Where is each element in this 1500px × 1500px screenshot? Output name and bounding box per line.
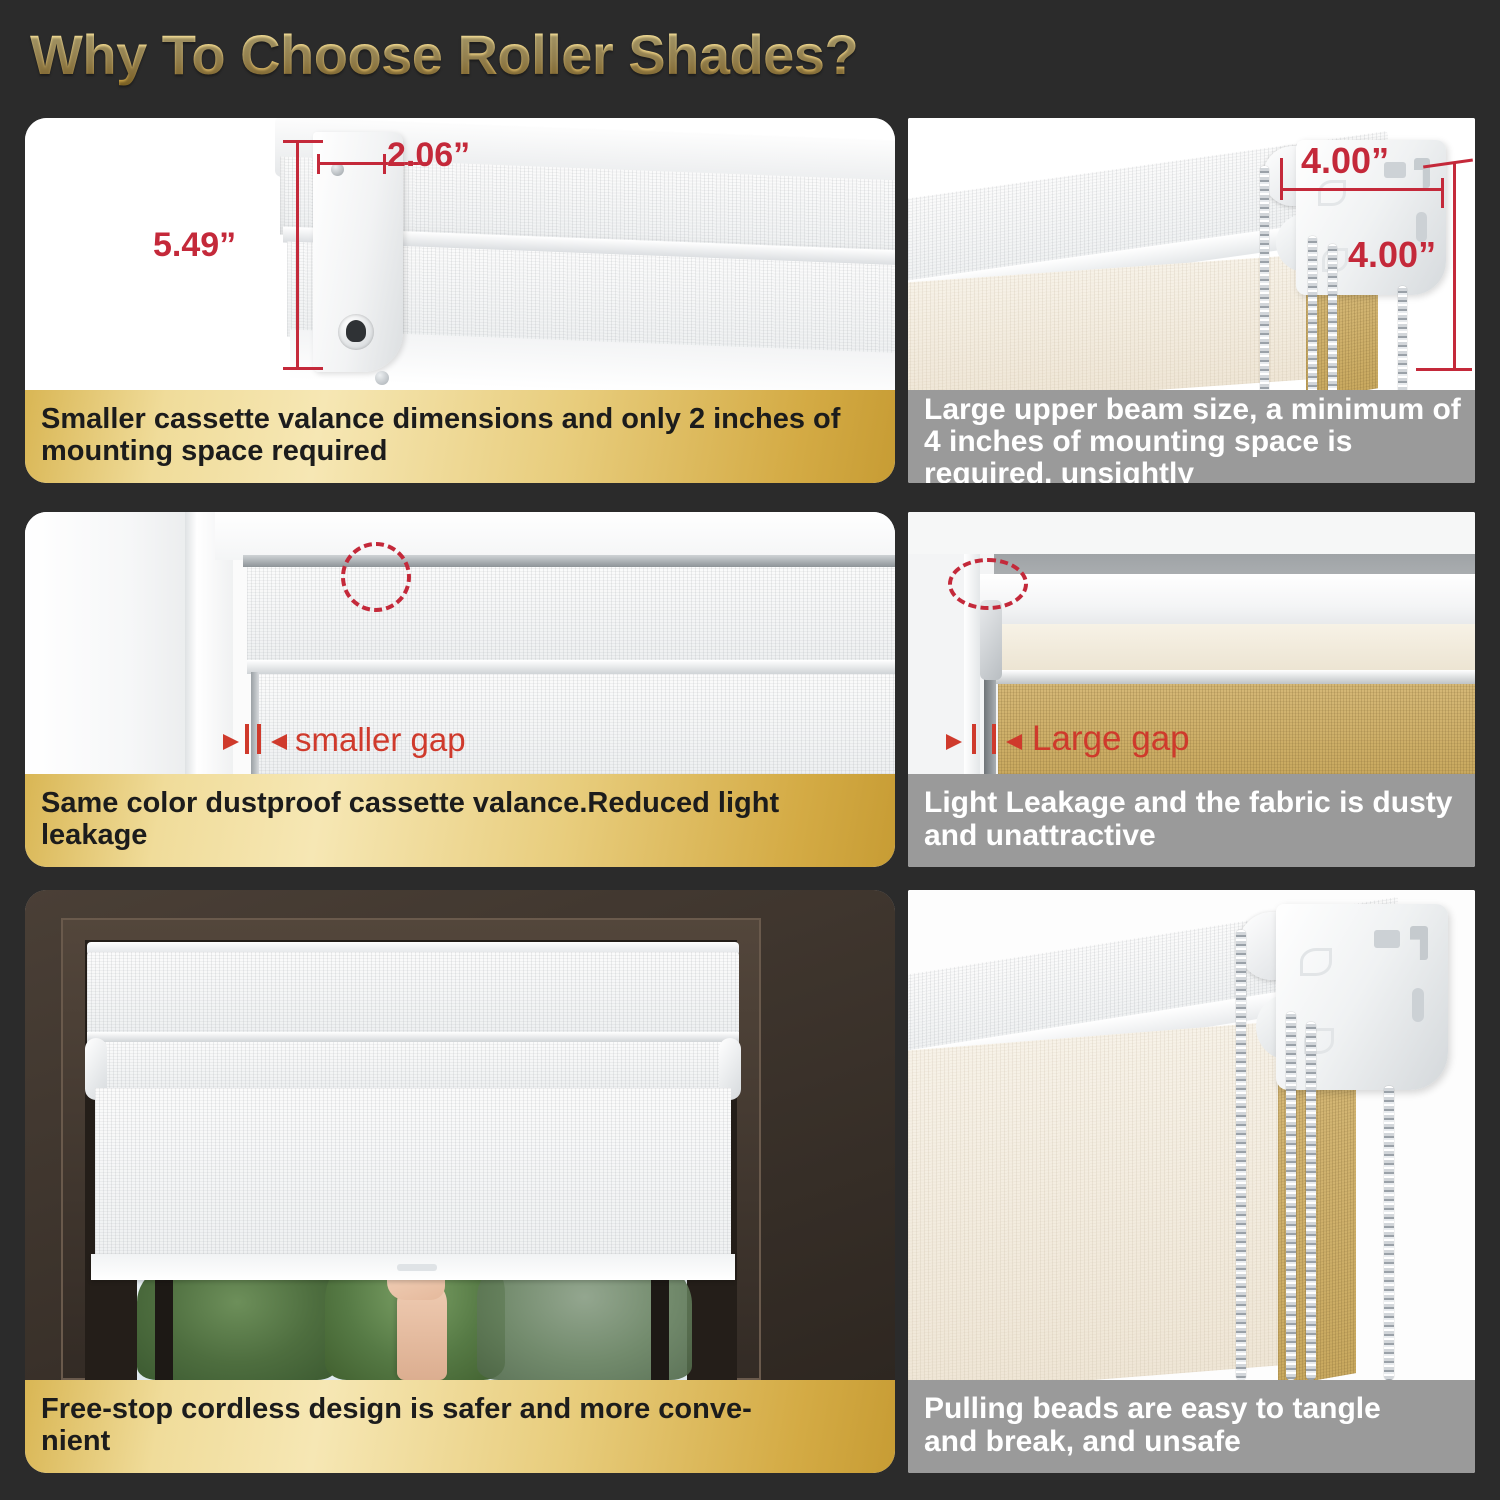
- highlight-circle-icon: [341, 542, 411, 612]
- panel-2-caption: Large upper beam size, a minimum of 4 in…: [908, 390, 1475, 483]
- panel-2-photo: 4.00” 4.00”: [908, 118, 1475, 390]
- panel-light-leakage: Large gap Light Leakage and the fabric i…: [908, 512, 1475, 867]
- bracket-clutch: [338, 314, 374, 350]
- panel-6-caption-line2: and break, and unsafe: [924, 1426, 1241, 1458]
- width-dim-tick-left: [317, 154, 320, 174]
- shade-left-gap: [251, 672, 259, 774]
- panel-cordless-design: Free-stop cordless design is safer and m…: [25, 890, 895, 1473]
- height-dimension-label: 5.49”: [153, 226, 236, 265]
- panel-3-photo: smaller gap: [25, 512, 895, 774]
- highlight-ellipse-icon: [948, 558, 1028, 610]
- panel-5-photo: [25, 890, 895, 1380]
- panel-dustproof-valance: smaller gap Same color dustproof cassett…: [25, 512, 895, 867]
- bead-chain-c: [1306, 1022, 1316, 1380]
- beam-lip: [990, 670, 1475, 684]
- bead-chain-d: [1384, 1086, 1394, 1380]
- panel-5-caption-line1: Free-stop cordless design is safer and m…: [41, 1394, 752, 1425]
- width-dimension-label: 2.06”: [387, 136, 470, 175]
- bead-chain-b: [1286, 1012, 1296, 1380]
- panel-2-caption-text: Large upper beam size, a minimum of 4 in…: [924, 394, 1461, 483]
- beam-width-label: 4.00”: [1301, 140, 1389, 182]
- height-dim-cap-top: [283, 140, 323, 143]
- panel-smaller-cassette: 2.06” 5.49” Smaller cassette valance dim…: [25, 118, 895, 483]
- bottom-rail-grip: [397, 1264, 437, 1271]
- height-dim-cap-bottom: [283, 367, 323, 370]
- beam-height-dim-line: [1453, 162, 1456, 370]
- large-gap-arrow-left-icon: [1006, 734, 1022, 750]
- smaller-gap-label: smaller gap: [295, 721, 466, 759]
- panel-1-caption-text: Smaller cassette valance dimensions and …: [41, 404, 881, 466]
- bead-chain-3: [1328, 244, 1337, 390]
- beam-height-label: 4.00”: [1348, 234, 1436, 276]
- window-frame-left: [25, 512, 200, 774]
- large-gap-tick-1: [972, 724, 976, 754]
- beam-width-tick-right: [1441, 178, 1444, 208]
- beam-cream-face: [992, 624, 1475, 672]
- window-head-frame: [215, 512, 895, 560]
- large-gap-arrow-right-icon: [946, 734, 962, 750]
- panel-1-caption: Smaller cassette valance dimensions and …: [25, 390, 895, 483]
- infographic-root: Why To Choose Roller Shades? 2.06”: [0, 0, 1500, 1500]
- large-gap-label: Large gap: [1032, 719, 1190, 759]
- panel-4-caption-text: Light Leakage and the fabric is dusty an…: [924, 787, 1461, 851]
- panel-1-photo: 2.06” 5.49”: [25, 118, 895, 390]
- panel-5-caption-line2: nient: [41, 1426, 110, 1457]
- beam-width-dim-line: [1281, 188, 1443, 191]
- height-dimension-line: [296, 140, 299, 370]
- bracket-clip: [980, 600, 1002, 680]
- valance-bottom-lip: [247, 660, 895, 674]
- valance-gap-line: [243, 555, 895, 567]
- panel-6-caption-line1: Pulling beads are easy to tangle: [924, 1393, 1381, 1425]
- bead-chain-4: [1398, 286, 1407, 390]
- bead-chain-1: [1260, 166, 1269, 390]
- panel-3-caption: Same color dustproof cassette valance.Re…: [25, 774, 895, 867]
- shade-main-fabric: [95, 1088, 731, 1266]
- panel-4-caption: Light Leakage and the fabric is dusty an…: [908, 774, 1475, 867]
- shade-roll-band: [93, 1042, 733, 1090]
- large-gap-tick-2: [992, 724, 996, 754]
- gap-tick-1: [245, 724, 249, 754]
- panel-5-caption: Free-stop cordless design is safer and m…: [25, 1380, 895, 1473]
- panel-4-photo: Large gap: [908, 512, 1475, 774]
- wall-top: [908, 512, 1475, 554]
- beam-width-tick-left: [1280, 158, 1283, 200]
- mounting-bracket-plate-2: [1276, 904, 1448, 1090]
- gap-arrow-right-icon: [223, 734, 239, 750]
- gap-tick-2: [257, 724, 261, 754]
- window-frame-edge: [185, 512, 197, 774]
- cassette-valance: [87, 952, 739, 1034]
- gap-arrow-left-icon: [271, 734, 287, 750]
- width-dim-tick-right: [383, 154, 386, 174]
- beam-height-cap-bottom: [1416, 368, 1472, 371]
- page-title: Why To Choose Roller Shades?: [30, 22, 858, 87]
- bead-chain-a: [1236, 930, 1246, 1380]
- panel-pulling-beads: Pulling beads are easy to tangle and bre…: [908, 890, 1475, 1473]
- panel-large-beam: 4.00” 4.00” Large upper beam size, a min…: [908, 118, 1475, 483]
- panel-6-caption: Pulling beads are easy to tangle and bre…: [908, 1380, 1475, 1473]
- panel-6-photo: [908, 890, 1475, 1380]
- bead-chain-2: [1308, 236, 1317, 390]
- panel-3-caption-text: Same color dustproof cassette valance.Re…: [41, 788, 881, 850]
